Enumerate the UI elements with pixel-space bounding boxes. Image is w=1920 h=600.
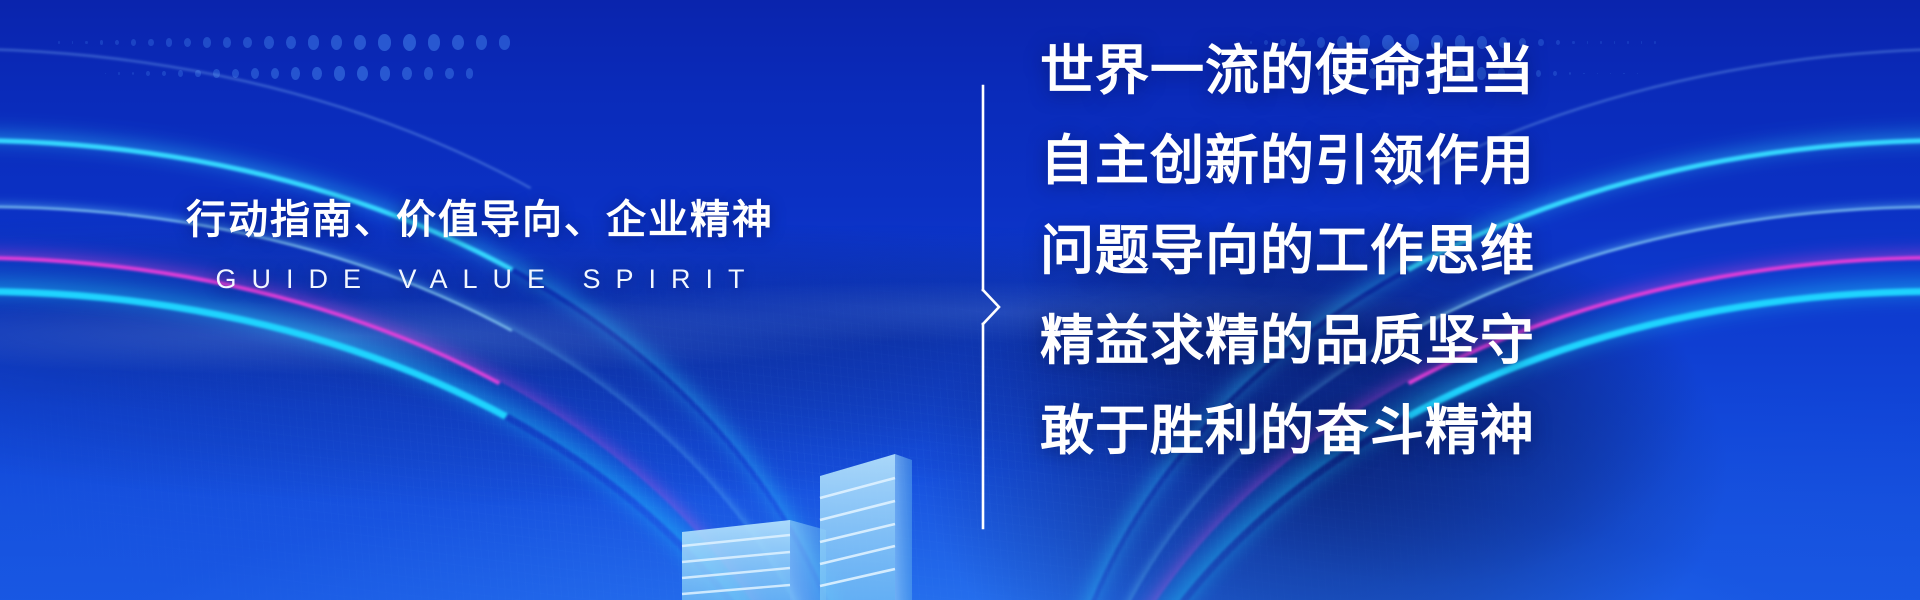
right-line-4: 精益求精的品质坚守 <box>1040 314 1600 368</box>
halftone-dots-left-row-1 <box>58 34 522 51</box>
chevron-right-icon <box>983 290 999 324</box>
right-line-1: 世界一流的使命担当 <box>1040 44 1600 98</box>
halftone-dots-left-row-2 <box>105 66 485 81</box>
right-line-2: 自主创新的引领作用 <box>1040 134 1600 188</box>
left-text-block: 行动指南、价值导向、企业精神 GUIDE VALUE SPIRIT <box>0 196 960 295</box>
right-line-3: 问题导向的工作思维 <box>1040 224 1600 278</box>
building-left <box>682 520 826 600</box>
section-divider <box>980 86 1006 528</box>
right-text-block: 世界一流的使命担当 自主创新的引领作用 问题导向的工作思维 精益求精的品质坚守 … <box>1040 44 1600 458</box>
left-subtitle-english: GUIDE VALUE SPIRIT <box>0 264 960 295</box>
right-line-5: 敢于胜利的奋斗精神 <box>1040 404 1600 458</box>
left-heading-chinese: 行动指南、价值导向、企业精神 <box>0 196 960 244</box>
culture-banner: 行动指南、价值导向、企业精神 GUIDE VALUE SPIRIT 世界一流的使… <box>0 0 1920 600</box>
building-right <box>820 454 912 600</box>
